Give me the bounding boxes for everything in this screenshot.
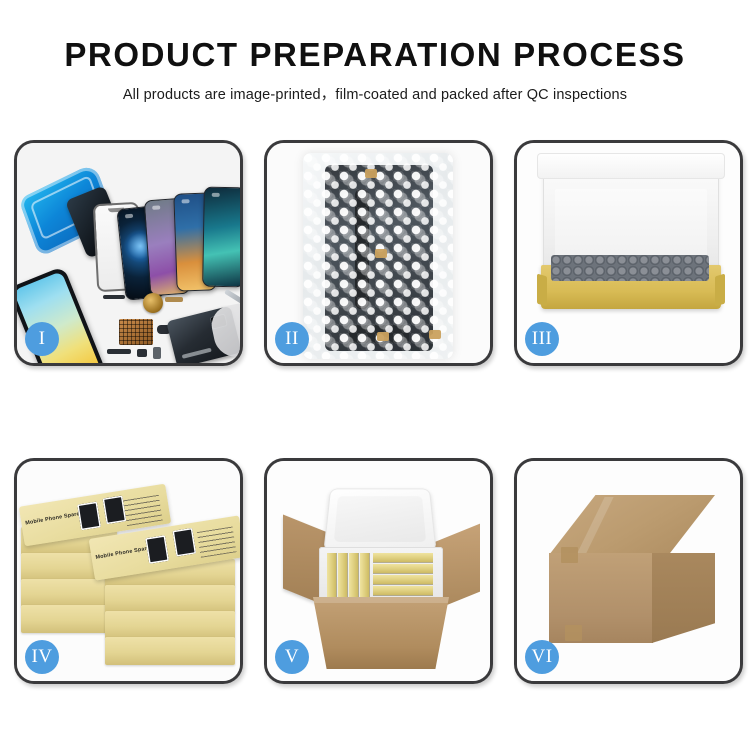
process-steps-grid: I II: [14, 140, 736, 684]
tape-piece: [375, 249, 387, 258]
step-badge-2: II: [275, 322, 309, 356]
carton-side-face: [652, 553, 715, 643]
stacked-box: [21, 605, 117, 633]
box-art-screen: [145, 535, 169, 564]
kraft-tray-box: [541, 265, 721, 309]
page-subtitle: All products are image-printed，film-coat…: [0, 83, 750, 104]
stacked-box: [105, 585, 235, 613]
step-panel-1: I: [14, 140, 243, 366]
yellow-box: [327, 553, 336, 597]
flex-cable-1: [103, 295, 125, 299]
foam-box-liner: [319, 547, 443, 603]
copper-mesh-shield: [119, 319, 153, 345]
kraft-carton-body: [313, 597, 449, 669]
step-panel-5: V: [264, 458, 493, 684]
sealed-carton: [539, 495, 725, 645]
carton-seam: [577, 497, 613, 553]
yellow-box: [360, 553, 369, 597]
step-badge-6: VI: [525, 640, 559, 674]
front-camera-icon: [212, 193, 220, 197]
tape-piece: [429, 330, 441, 339]
yellow-box: [373, 564, 433, 573]
bubble-wrap-bag: [303, 153, 453, 359]
step-badge-5: V: [275, 640, 309, 674]
yellow-box: [373, 586, 433, 595]
yellow-boxes-right: [373, 553, 435, 597]
front-camera-icon: [182, 199, 190, 203]
box-art-screen: [172, 528, 196, 557]
step-panel-2: II: [264, 140, 493, 366]
bubble-wrapped-contents: [551, 255, 709, 281]
tray-right-lip: [715, 274, 725, 307]
page-title: PRODUCT PREPARATION PROCESS: [0, 36, 750, 74]
stacked-box: [21, 579, 117, 607]
phone-screen-teal: [202, 187, 243, 288]
housing-label: [182, 348, 212, 359]
carton-top-edge: [313, 597, 449, 603]
step-panel-4: Mobile Phone Spare Parts Mobile Phone Sp…: [14, 458, 243, 684]
small-connector-1: [137, 349, 147, 357]
stacked-box: [105, 637, 235, 665]
front-camera-icon: [152, 205, 160, 210]
yellow-box: [373, 575, 433, 584]
small-connector-2: [153, 347, 161, 359]
carton-tape-lower: [565, 625, 582, 641]
wireless-charging-coil: [143, 293, 163, 313]
yellow-box: [349, 553, 358, 597]
step-badge-4: IV: [25, 640, 59, 674]
step-panel-6: VI: [514, 458, 743, 684]
tape-piece: [365, 169, 377, 178]
retail-box-stack: Mobile Phone Spare Parts Mobile Phone Sp…: [21, 481, 243, 671]
phone-fan-group: [117, 187, 243, 299]
step-badge-1: I: [25, 322, 59, 356]
yellow-box: [338, 553, 347, 597]
box-spec-lines: [123, 495, 163, 526]
tray-left-lip: [537, 274, 547, 307]
spare-parts-cluster: [103, 291, 243, 366]
product-preparation-infographic: PRODUCT PREPARATION PROCESS All products…: [0, 0, 750, 750]
tape-piece: [377, 332, 389, 341]
foam-box-lid: [323, 488, 436, 551]
front-camera-icon: [125, 214, 133, 219]
carton-tape-upper: [561, 547, 578, 563]
step-panel-3: III: [514, 140, 743, 366]
stacked-box: [105, 611, 235, 639]
carton-top-face: [549, 495, 715, 555]
flex-cable-3: [107, 349, 131, 354]
box-art-screen: [77, 502, 101, 531]
flex-cable-2: [165, 297, 183, 302]
step-badge-3: III: [525, 322, 559, 356]
yellow-box: [373, 553, 433, 562]
header: PRODUCT PREPARATION PROCESS All products…: [0, 0, 750, 104]
box-spec-lines: [197, 526, 237, 557]
